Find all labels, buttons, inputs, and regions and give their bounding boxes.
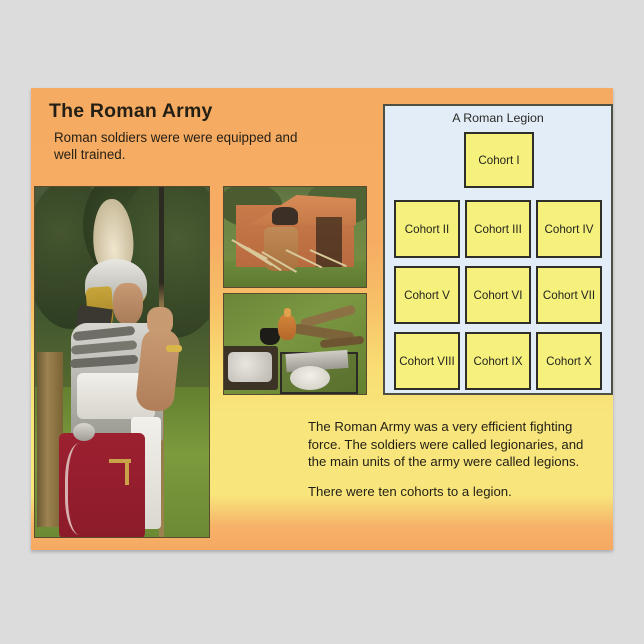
roman-camp-equipment-photo [223,293,367,395]
cohort-box-8[interactable]: Cohort VIII [394,332,460,390]
body-paragraph-1: The Roman Army was a very efficient figh… [308,418,598,471]
roman-legionary-photo [34,186,210,538]
ashes [228,352,272,382]
clay-jug [278,314,296,340]
white-bowl [290,366,330,390]
body-paragraph-2: There were ten cohorts to a legion. [308,483,598,501]
shield-highlight [65,443,102,535]
page-title: The Roman Army [49,100,213,123]
cohort-box-6[interactable]: Cohort VI [465,266,531,324]
cohort-box-2[interactable]: Cohort II [394,200,460,258]
shield-boss [73,423,95,441]
cohort-box-3[interactable]: Cohort III [465,200,531,258]
arm-band [166,345,182,352]
legion-panel-title: A Roman Legion [385,111,611,125]
cohort-box-10[interactable]: Cohort X [536,332,602,390]
cohort-box-1[interactable]: Cohort I [464,132,534,188]
cooking-pot [260,328,280,345]
roman-tent-photo [223,186,367,288]
body-copy: The Roman Army was a very efficient figh… [308,418,598,501]
poster: The Roman Army Roman soldiers were were … [31,88,613,550]
cohort-box-4[interactable]: Cohort IV [536,200,602,258]
subtitle-text: Roman soldiers were were equipped and we… [54,129,304,163]
cohort-box-9[interactable]: Cohort IX [465,332,531,390]
cohort-box-7[interactable]: Cohort VII [536,266,602,324]
soldier-hand [147,307,173,335]
tent-top-tuft [272,207,298,225]
clay-jug-neck [284,308,291,317]
cohort-box-5[interactable]: Cohort V [394,266,460,324]
tent-doorway [316,217,342,267]
shield-emblem [125,459,129,485]
soldier-face [113,283,143,325]
legion-diagram-panel: A Roman Legion Cohort I Cohort II Cohort… [383,104,613,395]
